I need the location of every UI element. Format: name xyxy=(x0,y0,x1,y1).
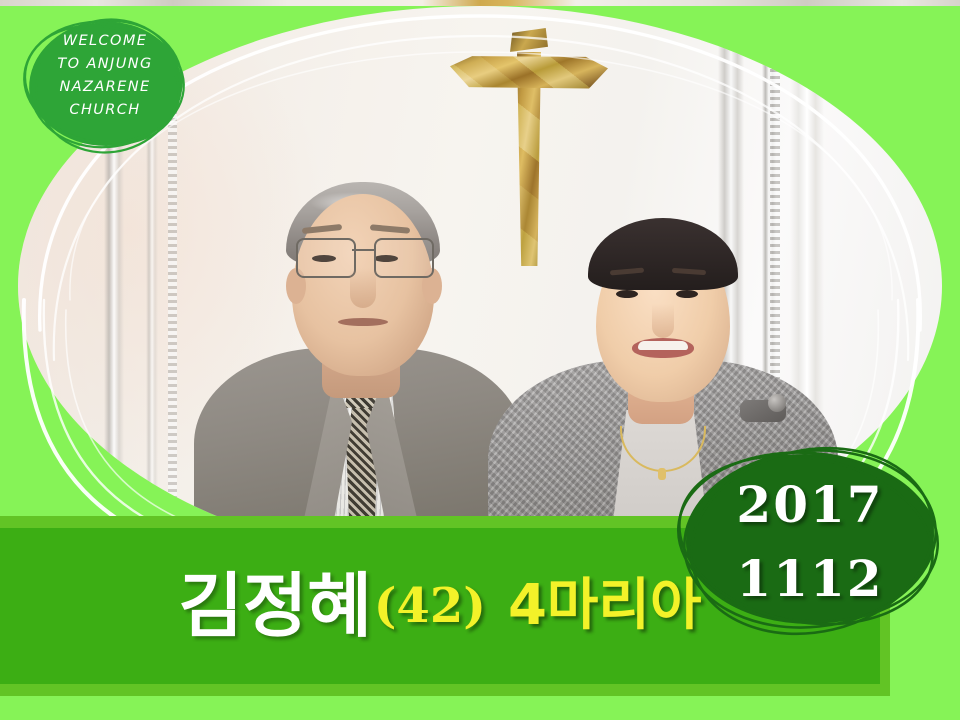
man-nose xyxy=(350,268,376,308)
welcome-line-1: WELCOME xyxy=(16,30,194,53)
welcome-badge: WELCOME TO ANJUNG NAZARENE CHURCH xyxy=(16,12,194,156)
bottom-green-strip xyxy=(0,696,960,720)
woman-eye-left xyxy=(616,290,638,298)
woman-mouth xyxy=(632,338,694,358)
person-man xyxy=(194,114,524,566)
welcome-badge-text: WELCOME TO ANJUNG NAZARENE CHURCH xyxy=(16,30,194,122)
welcome-line-2: TO ANJUNG xyxy=(16,53,194,76)
crucifix-top-nub xyxy=(510,28,548,52)
welcome-line-3: NAZARENE xyxy=(16,76,194,99)
welcome-line-4: CHURCH xyxy=(16,99,194,122)
woman-jacket-epaulet xyxy=(740,400,786,422)
man-mouth xyxy=(338,318,388,326)
member-age: (42) xyxy=(374,582,486,630)
crucifix-horizontal-bar xyxy=(450,54,608,90)
photo-card: 김정혜(42)4마리아 WELCOME TO ANJUNG NAZARENE C… xyxy=(0,0,960,720)
date-badge: 2017 1112 xyxy=(660,440,960,640)
member-name: 김정혜 xyxy=(179,571,372,641)
woman-nose xyxy=(652,304,674,338)
date-year: 2017 xyxy=(686,468,934,542)
woman-fringe xyxy=(588,218,738,290)
photo-top-sliver xyxy=(0,0,960,6)
woman-eye-right xyxy=(676,290,698,298)
date-monthday: 1112 xyxy=(686,542,934,616)
date-badge-text: 2017 1112 xyxy=(686,468,934,616)
